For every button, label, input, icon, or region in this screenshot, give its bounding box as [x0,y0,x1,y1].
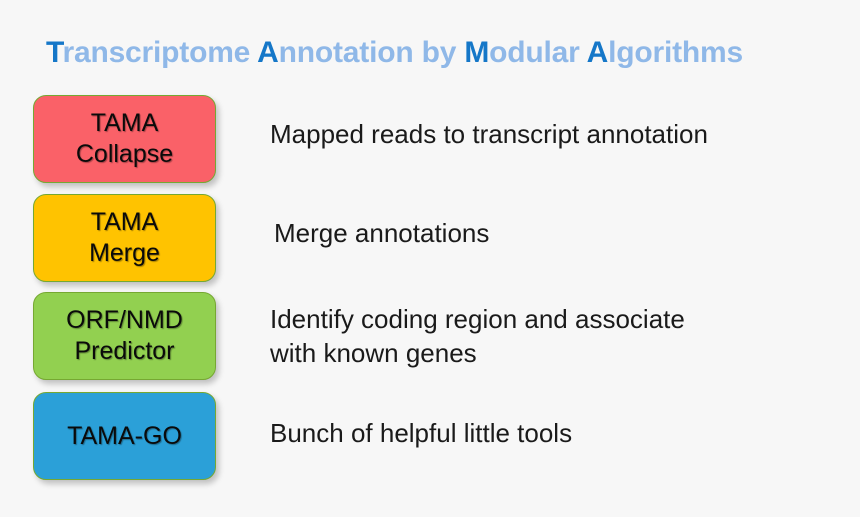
module-box-tama-go[interactable]: TAMA-GO [33,392,216,480]
title-cap-letter-0: T [46,36,62,69]
module-box-label-line-1: TAMA [91,207,159,238]
module-box-label-line-2: Predictor [74,336,174,367]
title-rest-text-0: ranscriptome [62,36,257,69]
module-box-label-line-2: Collapse [76,139,173,170]
module-description-tama-collapse: Mapped reads to transcript annotation [270,117,850,151]
title-segment-0: Transcriptome [46,36,257,69]
module-row: TAMA-GO Bunch of helpful little tools [0,392,860,480]
description-line: Identify coding region and associate [270,302,850,336]
module-description-orf-nmd-predictor: Identify coding region and associate wit… [270,302,850,370]
diagram-canvas: Transcriptome Annotation by Modular Algo… [0,0,860,517]
module-row: ORF/NMD Predictor Identify coding region… [0,292,860,380]
description-line: Mapped reads to transcript annotation [270,117,850,151]
page-title: Transcriptome Annotation by Modular Algo… [46,33,743,73]
module-box-label-line-1: TAMA-GO [67,421,182,452]
module-description-tama-go: Bunch of helpful little tools [270,416,850,450]
title-rest-text-2: odular [489,36,587,69]
title-cap-letter-1: A [257,36,278,69]
description-line: Merge annotations [274,216,854,250]
module-row: TAMA Merge Merge annotations [0,194,860,282]
title-rest-text-3: lgorithms [608,36,743,69]
title-segment-3: Algorithms [587,36,743,69]
description-line: with known genes [270,336,850,370]
module-box-label-line-1: TAMA [91,108,159,139]
module-box-orf-nmd-predictor[interactable]: ORF/NMD Predictor [33,292,216,380]
title-cap-letter-2: M [464,36,489,69]
title-rest-text-1: nnotation by [279,36,465,69]
title-cap-letter-3: A [587,36,608,69]
module-box-tama-collapse[interactable]: TAMA Collapse [33,95,216,183]
module-box-label-line-2: Merge [89,238,160,269]
module-box-tama-merge[interactable]: TAMA Merge [33,194,216,282]
description-line: Bunch of helpful little tools [270,416,850,450]
module-row: TAMA Collapse Mapped reads to transcript… [0,95,860,183]
module-box-label-line-1: ORF/NMD [66,305,183,336]
title-segment-2: Modular [464,36,586,69]
title-segment-1: Annotation by [257,36,464,69]
module-description-tama-merge: Merge annotations [274,216,854,250]
